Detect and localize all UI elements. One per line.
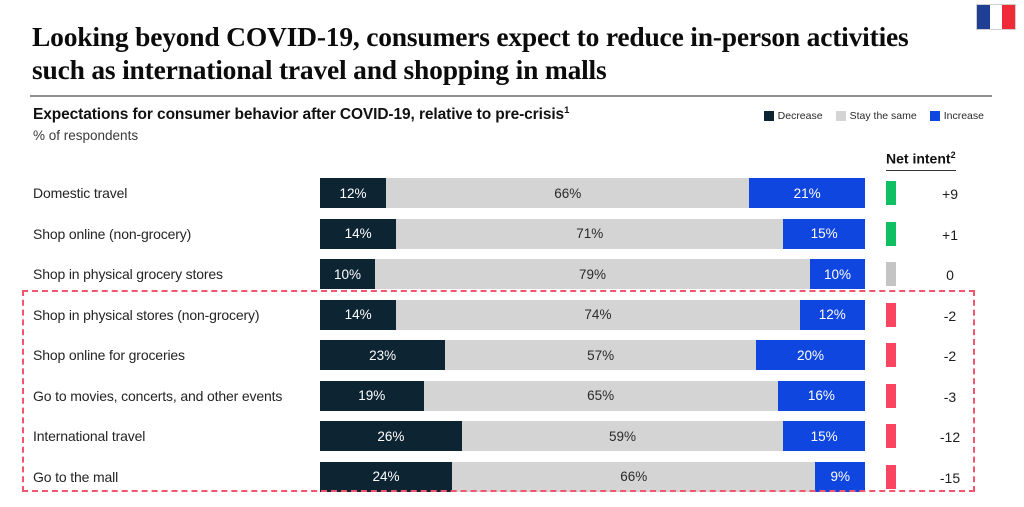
flag-stripe-red [1002,5,1015,29]
chart-row-label: Shop in physical stores (non-grocery) [33,307,259,323]
chart-row-label: Domestic travel [33,185,127,201]
chart-subtitle-text: Expectations for consumer behavior after… [33,106,564,123]
bar-segment-stay-the-same: 66% [452,462,815,492]
chart-row-label: Shop in physical grocery stores [33,266,223,282]
net-intent-header-text: Net intent [886,151,951,167]
title-divider [30,95,992,97]
bar-segment-decrease: 19% [320,381,424,411]
bar-segment-decrease: 23% [320,340,445,370]
chart-row-label: Shop online (non-grocery) [33,226,191,242]
legend-item-increase: Increase [930,110,984,122]
bar-segment-stay-the-same: 74% [396,300,799,330]
bar-segment-increase: 20% [756,340,865,370]
net-intent-value: -2 [920,308,980,324]
chart-row: Go to movies, concerts, and other events… [0,379,1024,420]
legend-label: Decrease [778,110,823,122]
net-intent-value: -2 [920,348,980,364]
net-intent-marker [886,465,896,489]
bar-segment-increase: 21% [749,178,865,208]
chart-row: Domestic travel12%66%21%+9 [0,176,1024,217]
net-intent-value: -12 [920,429,980,445]
bar-segment-decrease: 26% [320,421,462,451]
bar-segment-increase: 15% [783,421,865,451]
chart-rows: Domestic travel12%66%21%+9Shop online (n… [0,176,1024,500]
chart-row: Shop in physical grocery stores10%79%10%… [0,257,1024,298]
net-intent-value: +9 [920,186,980,202]
stacked-bar: 14%71%15% [320,219,865,249]
france-flag-icon [976,4,1016,30]
net-intent-marker [886,424,896,448]
flag-stripe-blue [977,5,990,29]
chart-units-label: % of respondents [33,128,138,143]
bar-segment-increase: 15% [783,219,865,249]
net-intent-value: +1 [920,227,980,243]
stacked-bar: 12%66%21% [320,178,865,208]
net-intent-marker [886,222,896,246]
stacked-bar: 26%59%15% [320,421,865,451]
chart-row: International travel26%59%15%-12 [0,419,1024,460]
legend-label: Stay the same [850,110,917,122]
net-intent-header: Net intent2 [886,150,956,171]
bar-segment-increase: 9% [815,462,865,492]
bar-segment-decrease: 10% [320,259,375,289]
legend-item-decrease: Decrease [764,110,823,122]
bar-segment-stay-the-same: 57% [445,340,756,370]
chart-row: Go to the mall24%66%9%-15 [0,460,1024,501]
stacked-bar: 19%65%16% [320,381,865,411]
net-intent-marker [886,181,896,205]
net-intent-marker [886,303,896,327]
chart-row: Shop online for groceries23%57%20%-2 [0,338,1024,379]
stacked-bar: 24%66%9% [320,462,865,492]
legend-item-stay-the-same: Stay the same [836,110,917,122]
legend-swatch-icon [764,111,774,121]
net-intent-value: 0 [920,267,980,283]
bar-segment-stay-the-same: 71% [396,219,783,249]
chart-row-label: Go to movies, concerts, and other events [33,388,282,404]
chart-row-label: Shop online for groceries [33,347,185,363]
chart-legend: DecreaseStay the sameIncrease [764,110,984,122]
bar-segment-decrease: 12% [320,178,386,208]
stacked-bar: 23%57%20% [320,340,865,370]
chart-row: Shop online (non-grocery)14%71%15%+1 [0,217,1024,258]
stacked-bar: 14%74%12% [320,300,865,330]
bar-segment-stay-the-same: 59% [462,421,784,451]
bar-segment-decrease: 14% [320,219,396,249]
bar-segment-stay-the-same: 66% [386,178,749,208]
bar-segment-stay-the-same: 79% [375,259,810,289]
bar-segment-increase: 16% [778,381,865,411]
net-intent-marker [886,262,896,286]
chart-row: Shop in physical stores (non-grocery)14%… [0,298,1024,339]
stacked-bar: 10%79%10% [320,259,865,289]
legend-swatch-icon [836,111,846,121]
chart-row-label: International travel [33,428,145,444]
net-intent-value: -15 [920,470,980,486]
bar-segment-decrease: 24% [320,462,452,492]
bar-segment-increase: 10% [810,259,865,289]
chart-row-label: Go to the mall [33,469,118,485]
chart-subtitle-footnote: 1 [564,105,569,116]
legend-swatch-icon [930,111,940,121]
net-intent-value: -3 [920,389,980,405]
net-intent-marker [886,343,896,367]
page-title: Looking beyond COVID-19, consumers expec… [32,20,962,86]
bar-segment-decrease: 14% [320,300,396,330]
bar-segment-stay-the-same: 65% [424,381,778,411]
legend-label: Increase [944,110,984,122]
chart-subtitle: Expectations for consumer behavior after… [33,105,569,124]
net-intent-header-footnote: 2 [951,150,956,160]
bar-segment-increase: 12% [800,300,865,330]
flag-stripe-white [990,5,1003,29]
net-intent-marker [886,384,896,408]
